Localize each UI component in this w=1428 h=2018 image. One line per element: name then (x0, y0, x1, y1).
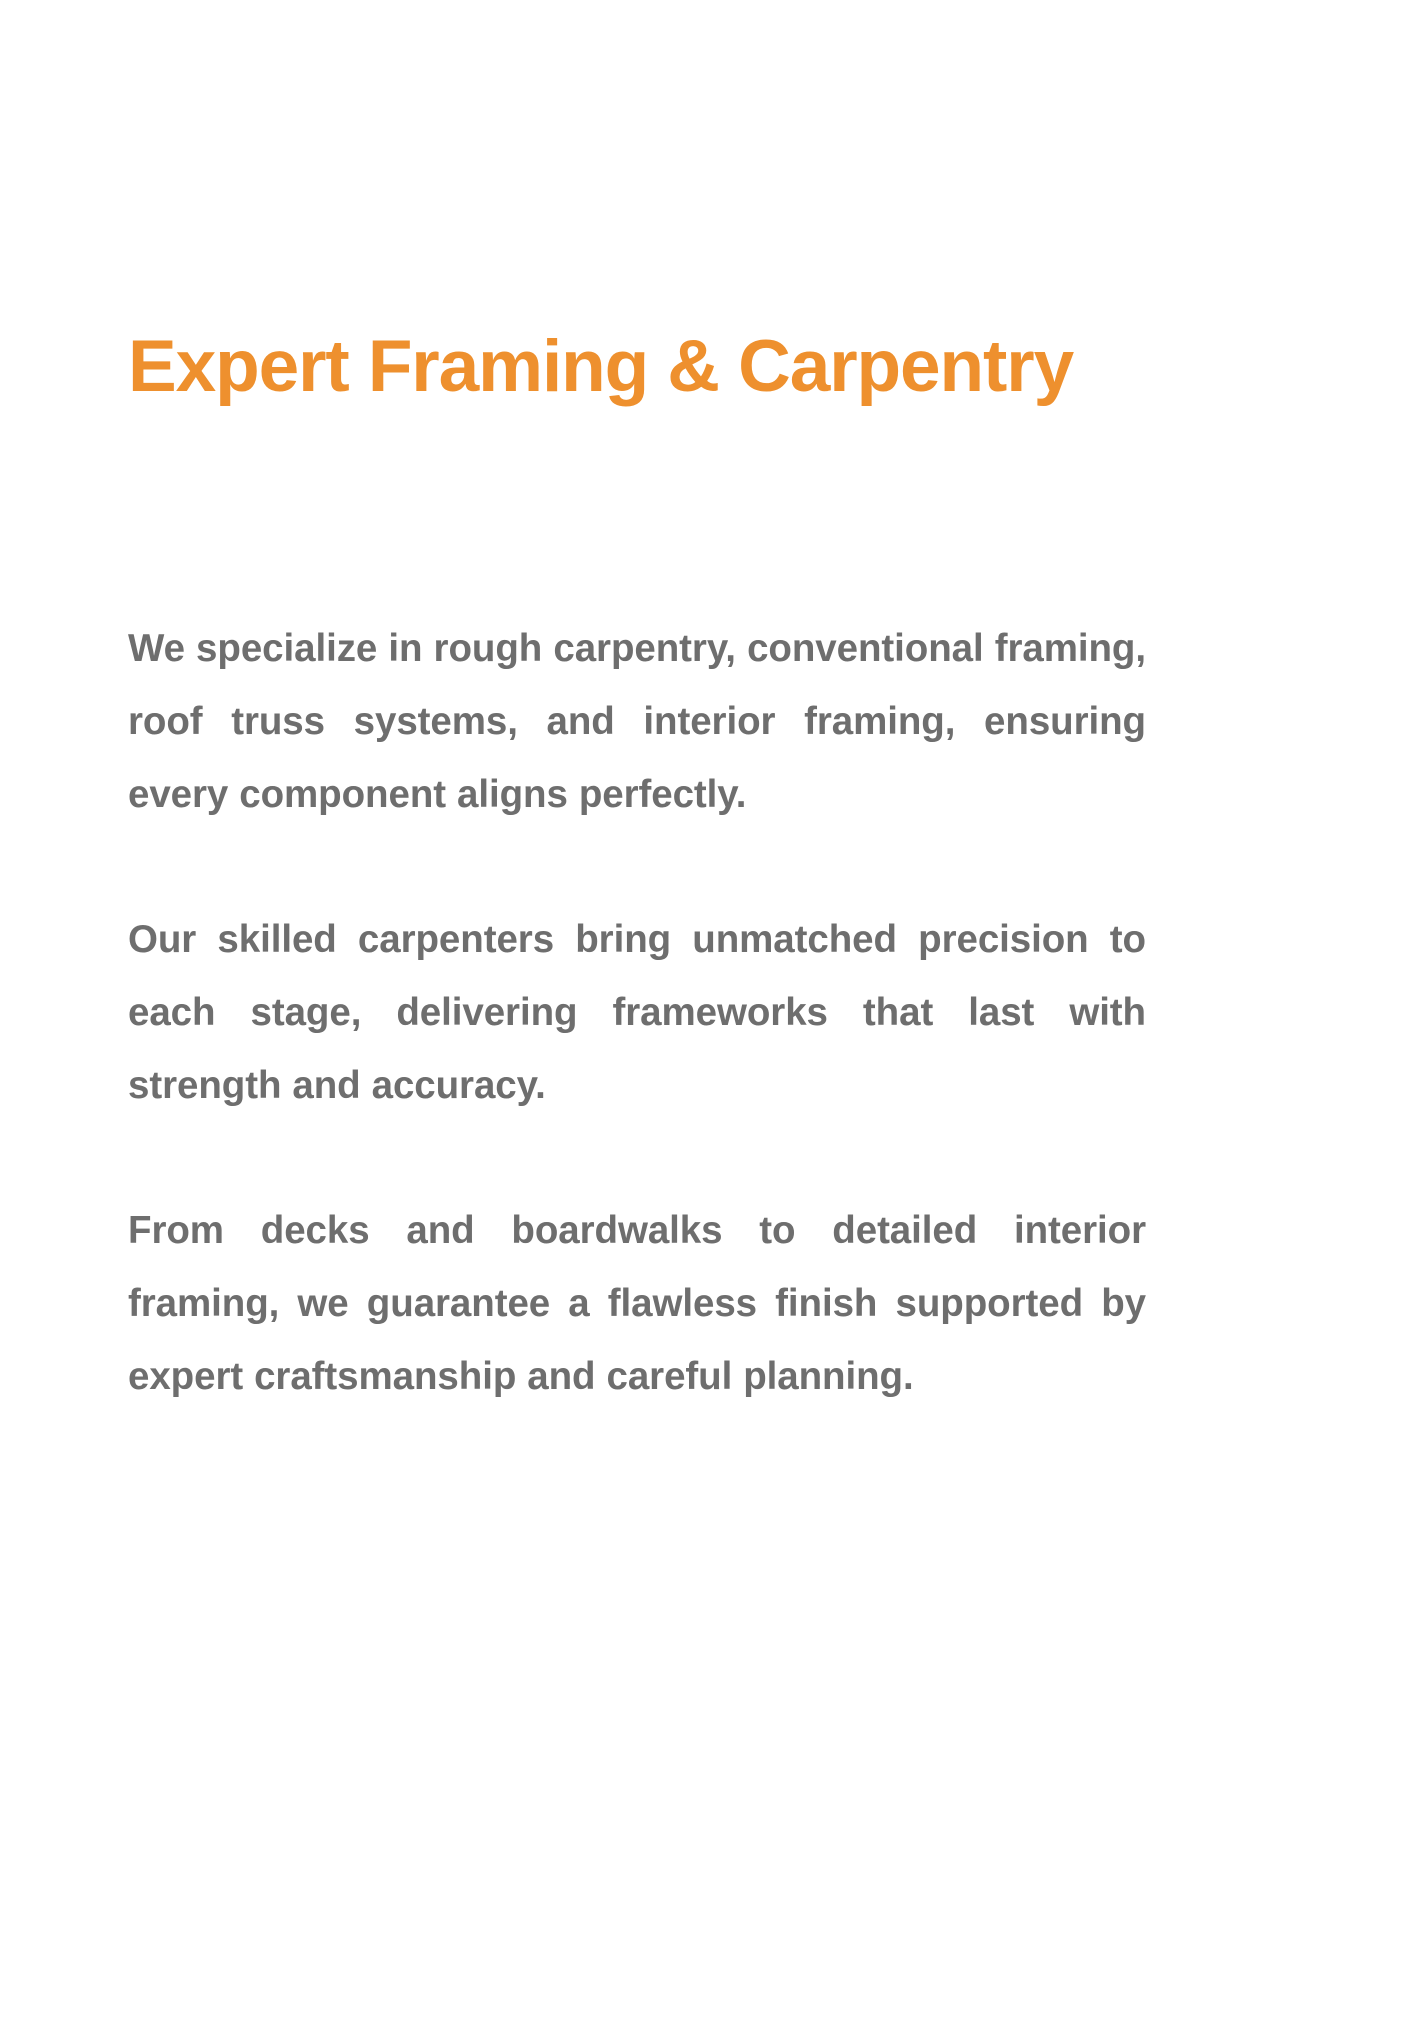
page-title: Expert Framing & Carpentry (128, 330, 1188, 403)
body-paragraph: From decks and boardwalks to detailed in… (128, 1194, 1146, 1413)
page-root: Expert Framing & Carpentry We specialize… (0, 0, 1428, 2018)
body-paragraph: Our skilled carpenters bring unmatched p… (128, 903, 1146, 1122)
body-paragraph: We specialize in rough carpentry, conven… (128, 612, 1146, 831)
services-content-block: Expert Framing & Carpentry We specialize… (128, 0, 1188, 2018)
body-copy: We specialize in rough carpentry, conven… (128, 612, 1146, 1413)
